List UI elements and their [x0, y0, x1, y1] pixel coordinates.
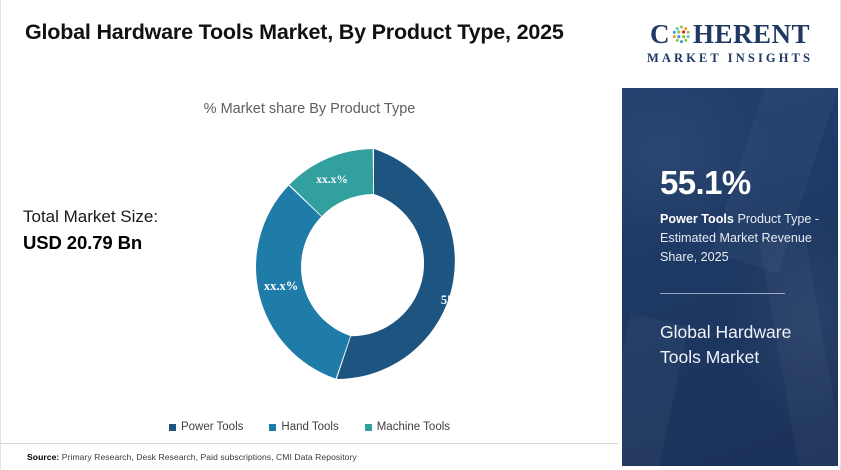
legend-item-machine-tools[interactable]: Machine Tools: [365, 421, 450, 433]
sidebar-highlight-panel: 55.1% Power Tools Product Type - Estimat…: [622, 88, 838, 466]
legend-swatch-hand-tools: [269, 424, 276, 431]
legend-label-hand-tools: Hand Tools: [281, 421, 338, 433]
legend-item-power-tools[interactable]: Power Tools: [169, 421, 243, 433]
donut-chart: 55.1% xx.x% xx.x%: [249, 142, 499, 392]
donut-label-hand-tools: xx.x%: [264, 279, 298, 293]
chart-legend: Power Tools Hand Tools Machine Tools: [1, 421, 618, 433]
legend-label-machine-tools: Machine Tools: [377, 421, 450, 433]
total-market-size-value: USD 20.79 Bn: [23, 230, 223, 257]
donut-label-power-tools: 55.1%: [441, 293, 475, 307]
logo-word-herent: HERENT: [693, 21, 810, 48]
total-market-size-label: Total Market Size:: [23, 205, 223, 230]
main-content-area: Global Hardware Tools Market, By Product…: [1, 0, 618, 470]
page-title: Global Hardware Tools Market, By Product…: [25, 18, 595, 46]
source-prefix: Source:: [27, 452, 59, 462]
legend-swatch-power-tools: [169, 424, 176, 431]
source-note: Source: Primary Research, Desk Research,…: [27, 452, 357, 462]
right-sidebar: C HERENT: [618, 0, 841, 470]
source-text: Primary Research, Desk Research, Paid su…: [59, 452, 356, 462]
legend-item-hand-tools[interactable]: Hand Tools: [269, 421, 338, 433]
sidebar-market-name: Global Hardware Tools Market: [660, 320, 836, 371]
chart-subtitle: % Market share By Product Type: [1, 101, 618, 117]
brand-logo[interactable]: C HERENT: [618, 0, 841, 86]
total-market-size-block: Total Market Size: USD 20.79 Bn: [23, 205, 223, 256]
donut-label-machine-tools: xx.x%: [316, 174, 348, 186]
globe-icon: [671, 24, 692, 45]
logo-wordmark: C HERENT: [650, 21, 810, 48]
sidebar-stat-description: Power Tools Product Type - Estimated Mar…: [660, 210, 828, 267]
logo-letter-c: C: [650, 21, 670, 48]
sidebar-desc-strong: Power Tools: [660, 212, 734, 226]
footer-divider: [1, 443, 618, 444]
sidebar-stat-value: 55.1%: [660, 166, 751, 199]
legend-swatch-machine-tools: [365, 424, 372, 431]
legend-label-power-tools: Power Tools: [181, 421, 243, 433]
logo-tagline: MARKET INSIGHTS: [647, 51, 813, 66]
infographic-canvas: Global Hardware Tools Market, By Product…: [0, 0, 841, 470]
sidebar-divider-rule: [660, 293, 785, 294]
